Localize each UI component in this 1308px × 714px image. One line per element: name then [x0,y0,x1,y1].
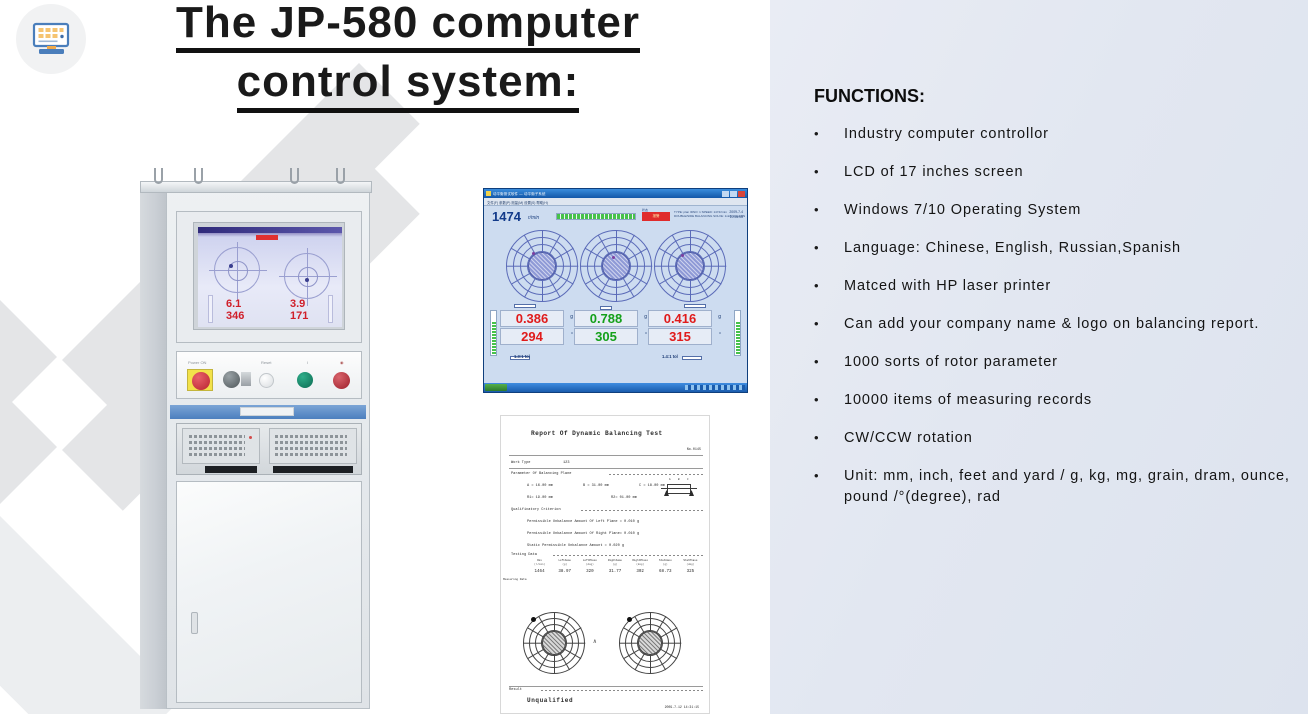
ipc-label-strip-right [273,466,353,473]
bullet-icon: • [808,276,844,296]
reading-unit-angle-left: ° [571,332,573,338]
tolerance-left: 1.3:1 tol [514,354,530,359]
monitor-left-angle: 346 [226,311,244,322]
bullet-icon: • [808,428,844,448]
reading-unit-amount-middle: g [644,314,647,320]
page-title-line-1: The JP-580 computer [176,0,640,53]
lifting-hook-icon [336,168,345,184]
cabinet-monitor-screen: 6.1 346 3.9 171 [198,227,342,327]
report-section-testing: Testing Data [511,553,537,557]
ipc-label-strip-left [205,466,257,473]
report-data-table: Rev LeftAmou LeftPhase RightAmou RightPh… [527,559,703,574]
reading-unit-angle-middle: ° [645,332,647,338]
software-titlebar: 动平衡测试软件 — 动平衡子系统 [484,189,747,198]
reading-angle-left: 294 [500,328,564,345]
balancing-software-screenshot: 动平衡测试软件 — 动平衡子系统 文件(F) 参数(P) 测量(M) 设置(S)… [483,188,748,393]
report-datetime: 2009-7-12 14:31:15 [665,705,699,709]
report-param-r2: R2= 01.00 mm [611,496,637,500]
slide-root: The JP-580 computer control system: [0,0,1308,714]
reset-label: Reset [261,360,271,365]
report-polar-plot-left [523,612,585,674]
monitor-level-bar-left [208,295,213,323]
monitor-frame: 6.1 346 3.9 171 [176,211,362,343]
list-item: • Unit: mm, inch, feet and yard / g, kg,… [808,466,1298,508]
table-unit-cell: (deg) [678,563,703,567]
app-icon [486,191,491,196]
bullet-icon: • [808,200,844,220]
table-unit-cell: (deg) [577,563,602,567]
monitor-titlebar [198,227,342,233]
monitor-polar-plot-right [284,253,330,299]
operator-control-panel: Power ON Reset I ◉ [176,351,362,399]
polar-plot-right [654,230,726,302]
drawer-slot [240,407,294,416]
start-button-icon[interactable] [485,384,507,391]
report-serial: No.0145 [687,448,701,452]
reading-angle-right: 315 [648,328,712,345]
monitor-alarm-tag [256,235,278,240]
maximize-icon[interactable] [730,191,737,197]
list-item: • Matced with HP laser printer [808,276,1298,297]
chevron-shape [0,60,57,418]
monitor-bezel: 6.1 346 3.9 171 [193,222,345,330]
progress-bar [556,213,636,220]
stop-button[interactable] [333,372,350,389]
lifting-hook-icon [194,168,203,184]
list-item-label: 10000 items of measuring records [844,390,1092,411]
system-tray[interactable] [685,385,745,390]
tolerance-right: 1.4:1 tol [662,354,678,359]
table-unit-cell: (r/min) [527,563,552,567]
reading-group-right: 0.416 315 g ° 1.4:1 tol [648,310,720,345]
software-datetime: 2009-7-4 10:34:06 [729,210,743,220]
list-item: • LCD of 17 inches screen [808,162,1298,183]
reading-amount-middle: 0.788 [574,310,638,327]
functions-list: • Industry computer controllor • LCD of … [808,124,1298,525]
page-title: The JP-580 computer control system: [108,0,708,113]
computer-monitor-icon [16,4,86,74]
table-unit-cell: (g) [602,563,627,567]
functions-heading: FUNCTIONS: [814,86,925,107]
knurled-handle-icon [241,372,251,386]
lifting-hook-icon [154,168,163,184]
polar-plot-middle [580,230,652,302]
table-cell: 68.73 [653,570,678,574]
minimize-icon[interactable] [722,191,729,197]
power-label: Power ON [188,360,206,365]
monitor-polar-plot-left [214,247,260,293]
ipc-bay-right [269,428,357,464]
list-item: • CW/CCW rotation [808,428,1298,449]
ipc-bay-left [182,428,260,464]
report-section-parameters: Parameter Of Balancing Plane [511,472,571,476]
plane-indicator-right [684,304,706,308]
report-result-label: Result [509,688,522,692]
list-item-label: Matced with HP laser printer [844,276,1051,297]
list-item-label: LCD of 17 inches screen [844,162,1023,183]
rpm-unit: r/min [528,215,539,221]
report-criterion-static: Static Permissible Unbalance Amount = 0.… [527,544,624,548]
list-item: • 1000 sorts of rotor parameter [808,352,1298,373]
software-window-title: 动平衡测试软件 — 动平衡子系统 [493,191,546,196]
industrial-pc-unit [176,423,362,475]
door-latch-icon[interactable] [191,612,198,634]
report-worktype-value: 123 [563,461,569,465]
report-criterion-left: Permissible Unbalance Amount Of Left Pla… [527,520,639,524]
balancing-report-document: Report Of Dynamic Balancing Test No.0145… [500,415,710,714]
machine-cabinet-photo: 6.1 346 3.9 171 Power ON Reset I ◉ [140,165,390,714]
start-button[interactable] [297,372,313,388]
emergency-stop-button[interactable] [187,369,213,391]
report-param-b: B = 31.00 mm [583,484,609,488]
table-cell: 302 [628,570,653,574]
lifting-hook-icon [290,168,299,184]
software-status-row: 1474 r/min 状态 报警 TYPE: plan IDNO: 1 SPEE… [484,206,747,228]
polar-plot-left [506,230,578,302]
polar-plot-row [484,230,747,310]
software-workspace: 1474 r/min 状态 报警 TYPE: plan IDNO: 1 SPEE… [484,206,747,383]
monitor-right-amount: 3.9 [290,299,305,310]
list-item-label: Industry computer controllor [844,124,1049,145]
list-item-label: Language: Chinese, English, Russian,Span… [844,238,1181,259]
report-polar-plot-right [619,612,681,674]
bullet-icon: • [808,124,844,144]
table-row-label: Measuring Data [503,578,527,581]
report-param-a: A = 16.00 mm [527,484,553,488]
reading-group-middle: 0.788 305 g ° [574,310,646,345]
list-item: • Can add your company name & logo on ba… [808,314,1298,335]
list-item-label: CW/CCW rotation [844,428,973,449]
list-item-label: Windows 7/10 Operating System [844,200,1081,221]
cabinet-lower-door[interactable] [176,481,362,703]
list-item: • 10000 items of measuring records [808,390,1298,411]
table-cell: 31.77 [602,570,627,574]
cabinet-side-panel [140,189,168,709]
report-criterion-right: Permissible Unbalance Amount Of Right Pl… [527,532,639,536]
close-icon[interactable] [738,191,745,197]
plane-link-icon: ∧ [593,638,597,645]
report-section-criteria: Qualificatory Criterion [511,508,561,512]
table-cell: 38.97 [552,570,577,574]
bullet-icon: • [808,238,844,258]
rpm-value: 1474 [492,209,521,224]
reading-unit-amount-right: g [718,314,721,320]
monitor-level-bar-right [328,295,333,323]
table-unit-cell: (g) [552,563,577,567]
list-item-label: Can add your company name & logo on bala… [844,314,1259,335]
selector-knob[interactable] [223,371,240,388]
monitor-right-angle: 171 [290,311,308,322]
slide-header: The JP-580 computer control system: [0,0,770,110]
bullet-icon: • [808,352,844,372]
list-item-label: Unit: mm, inch, feet and yard / g, kg, m… [844,466,1298,508]
reading-unit-amount-left: g [570,314,573,320]
table-row: 1464 38.97 320 31.77 302 68.73 325 [527,570,703,574]
bullet-icon: • [808,390,844,410]
table-unit-cell: (deg) [628,563,653,567]
plane-indicator-left [514,304,536,308]
bullet-icon: • [808,162,844,182]
software-time: 10:34:06 [729,215,743,220]
readings-row: 0.386 294 g ° 1.3:1 tol 0.788 305 g ° 0.… [484,310,747,362]
reading-amount-left: 0.386 [500,310,564,327]
report-param-r1: R1= 19.00 mm [527,496,553,500]
reading-group-left: 0.386 294 g ° 1.3:1 tol [500,310,572,345]
page-title-line-2: control system: [237,57,580,112]
start-label: I [307,360,308,365]
bullet-icon: • [808,466,844,486]
functions-panel: FUNCTIONS: • Industry computer controllo… [770,0,1308,714]
reset-button[interactable] [259,373,274,388]
stop-label: ◉ [340,360,344,365]
table-header-row-2: (r/min) (g) (deg) (g) (deg) (g) (deg) [527,563,703,567]
report-worktype-label: Work Type [511,461,530,465]
table-cell: 1464 [527,570,552,574]
software-menubar[interactable]: 文件(F) 参数(P) 测量(M) 设置(S) 帮助(H) [484,198,747,206]
windows-taskbar [484,383,747,392]
table-cell: 325 [678,570,703,574]
cabinet-blue-trim [170,405,366,419]
reading-angle-middle: 305 [574,328,638,345]
alarm-badge: 报警 [642,212,670,221]
rotor-diagram-icon: A B C [661,478,697,500]
list-item: • Language: Chinese, English, Russian,Sp… [808,238,1298,259]
list-item: • Industry computer controllor [808,124,1298,145]
window-controls[interactable] [722,191,745,197]
monitor-left-amount: 6.1 [226,299,241,310]
table-unit-cell: (g) [653,563,678,567]
bullet-icon: • [808,314,844,334]
reading-amount-right: 0.416 [648,310,712,327]
reading-unit-angle-right: ° [719,332,721,338]
list-item-label: 1000 sorts of rotor parameter [844,352,1058,373]
report-title: Report Of Dynamic Balancing Test [531,430,663,437]
list-item: • Windows 7/10 Operating System [808,200,1298,221]
report-result-value: Unqualified [527,697,573,704]
table-cell: 320 [577,570,602,574]
